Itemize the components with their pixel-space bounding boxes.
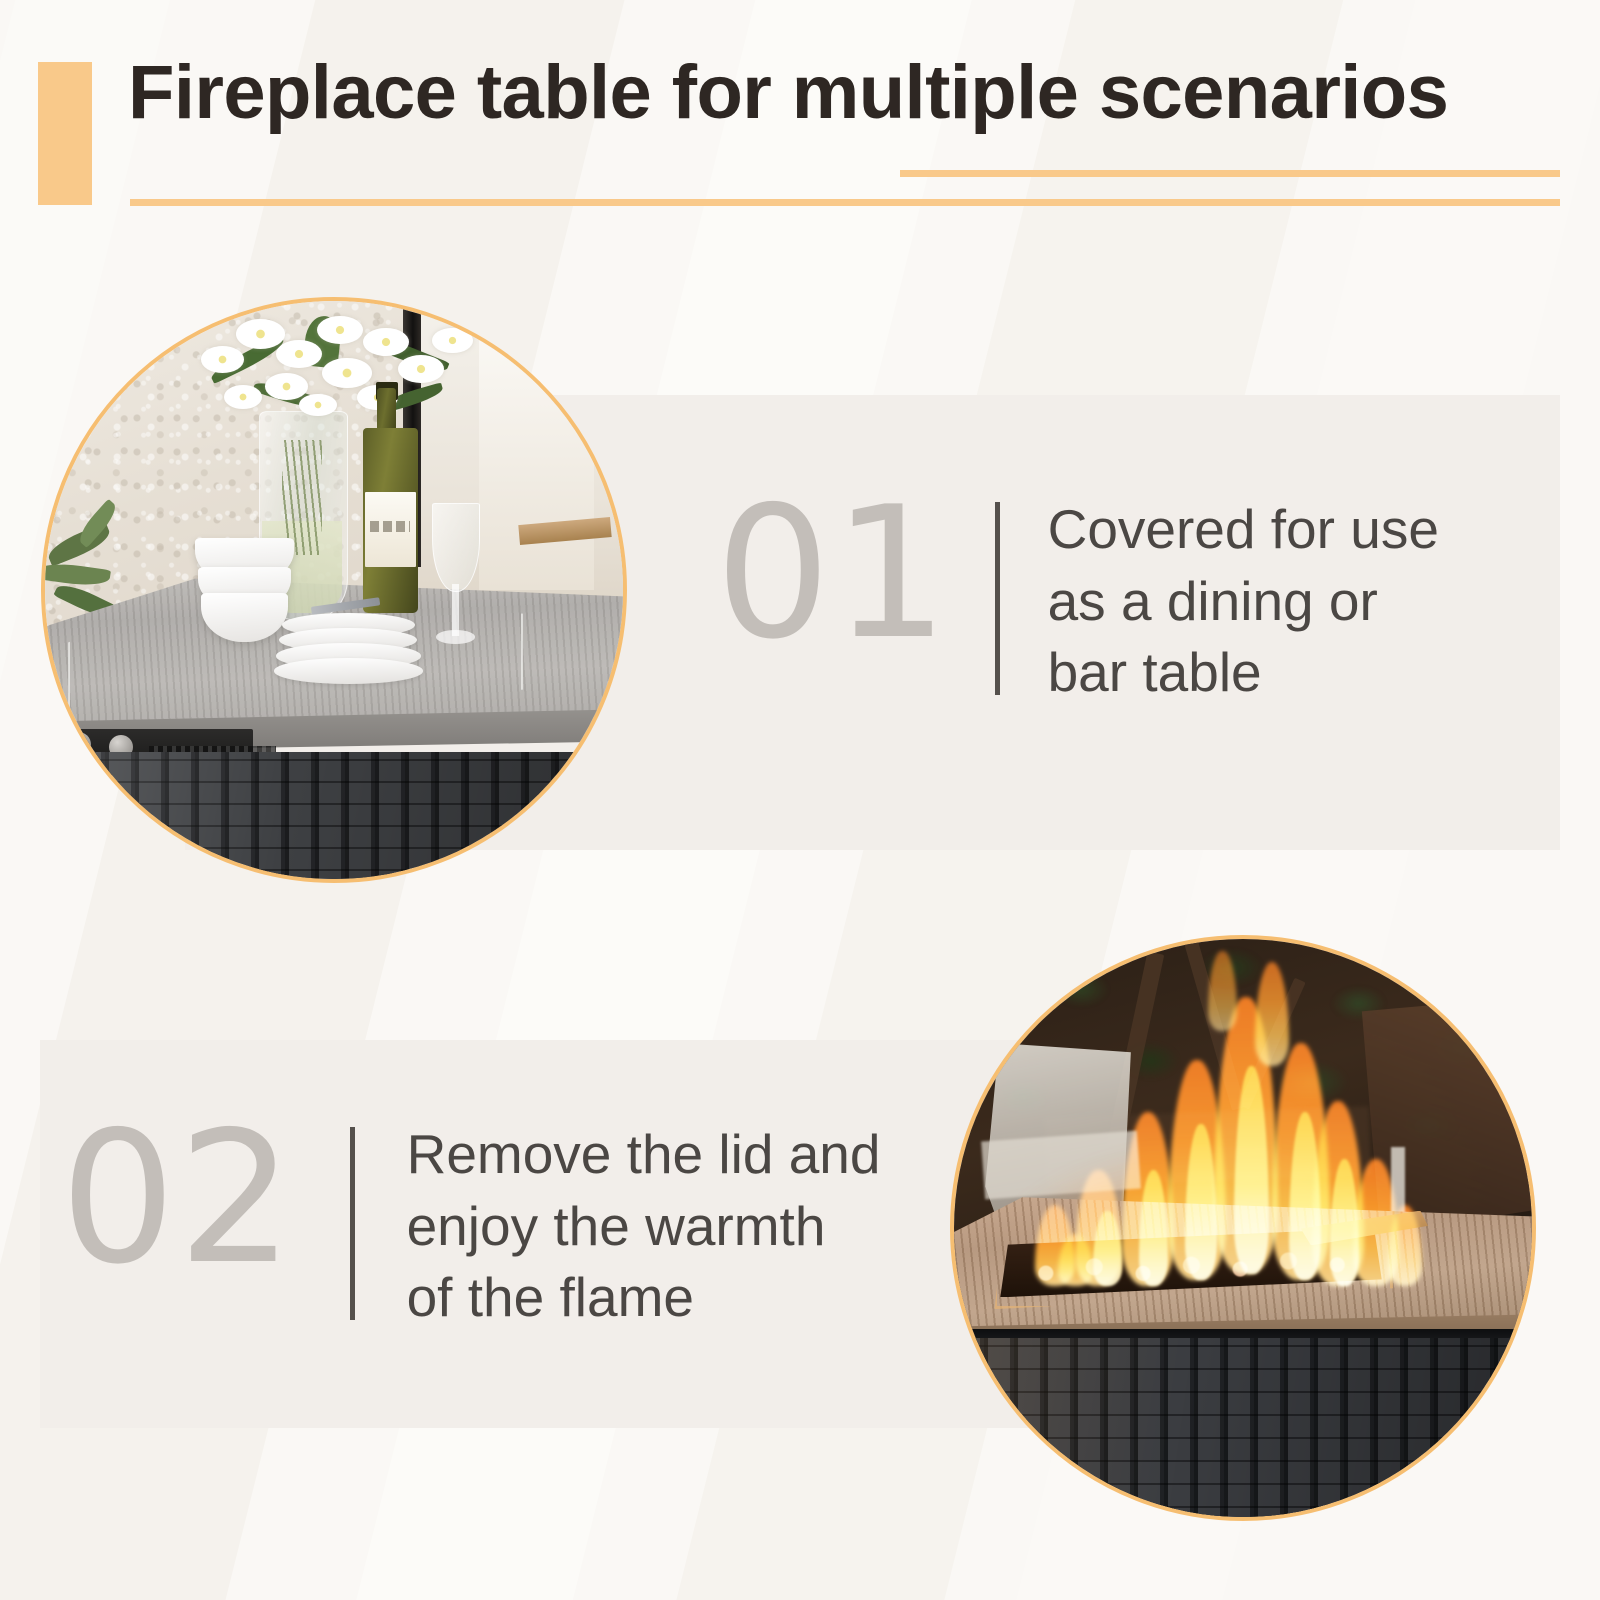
feature-divider-02 [350,1127,355,1320]
white-flower-bouquet [190,307,479,457]
title-accent-bar [38,62,92,205]
photo-fire-flames [950,935,1536,1521]
header-rule-lower [130,199,1560,206]
feature-text-01: Covered for use as a dining or bar table [1048,480,1439,709]
header-rule-upper [900,170,1560,177]
feature-divider-01 [995,502,1000,695]
feature-text-02: Remove the lid and enjoy the warmth of t… [407,1105,881,1334]
photo-dining-setup [41,297,627,883]
header: Fireplace table for multiple scenarios [0,0,1600,230]
page-title: Fireplace table for multiple scenarios [128,48,1448,138]
feature-01: 01 Covered for use as a dining or bar ta… [715,480,1439,709]
feature-number-01: 01 [715,484,951,662]
feature-number-02: 02 [60,1109,296,1287]
feature-02: 02 Remove the lid and enjoy the warmth o… [60,1105,881,1334]
